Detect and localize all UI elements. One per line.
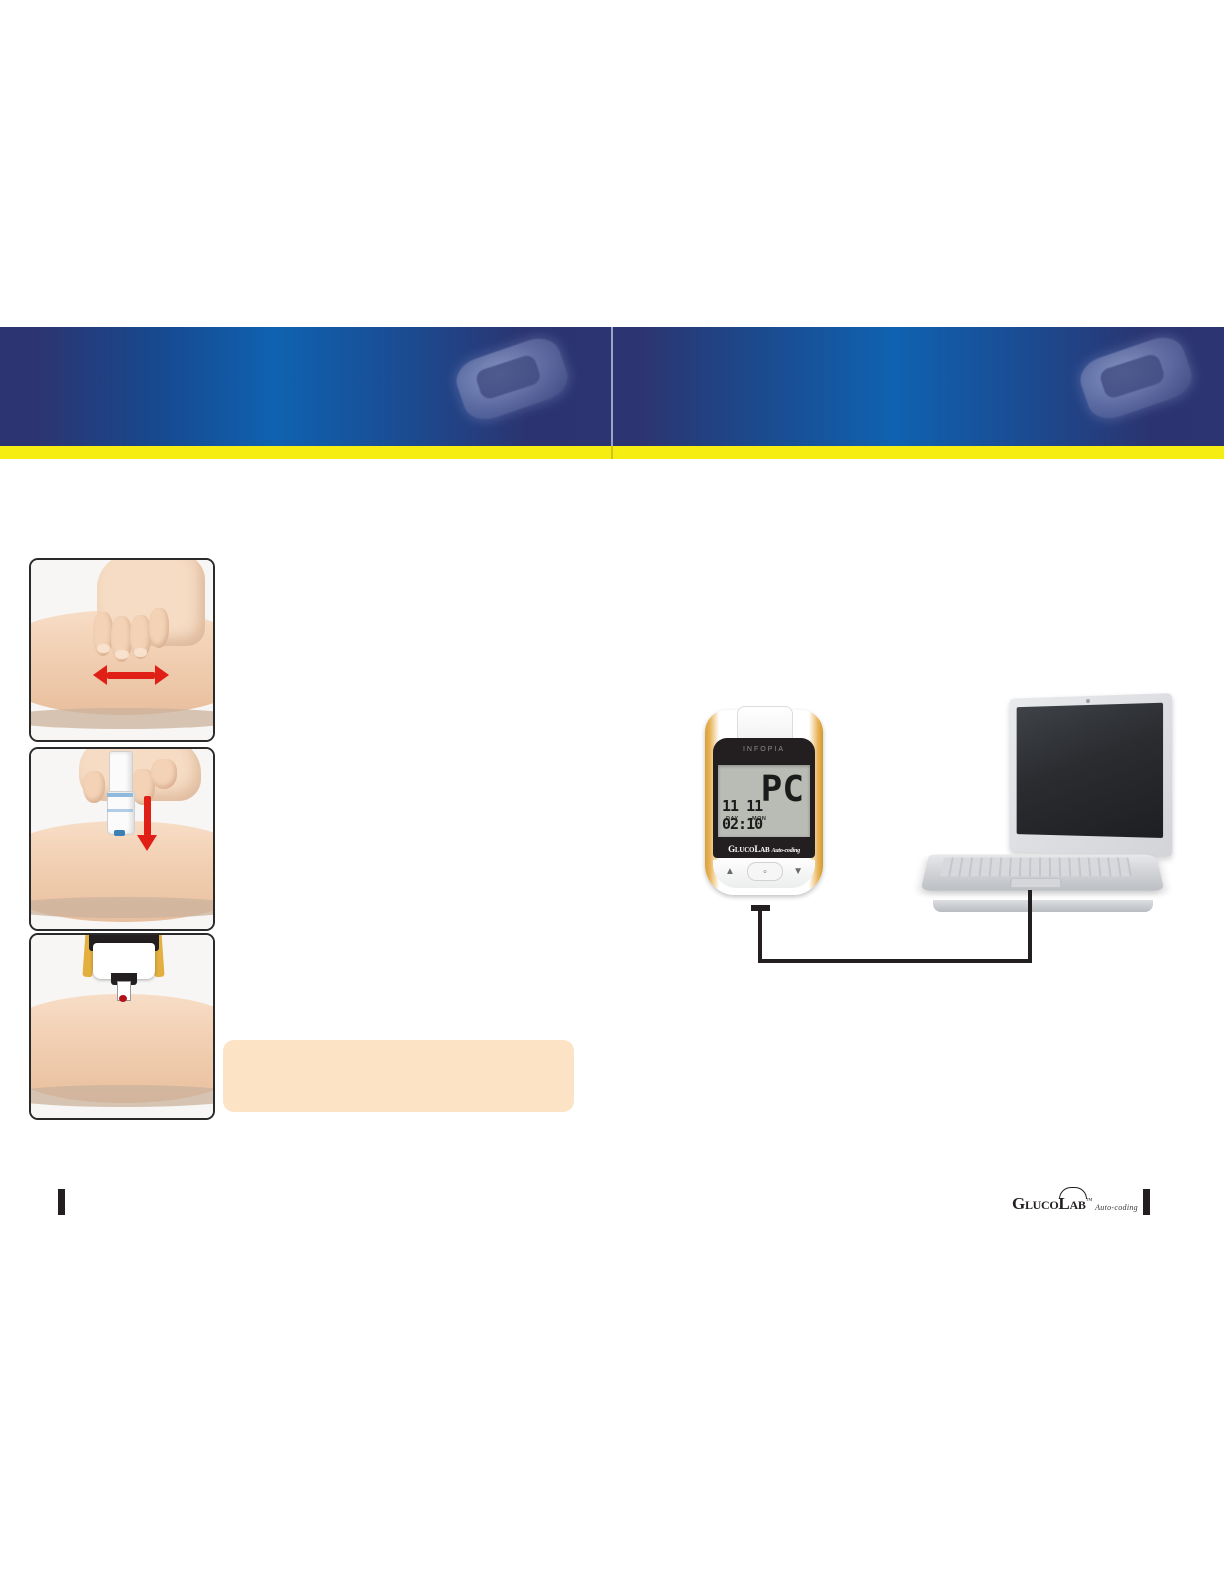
lancing-device-band [107, 793, 133, 797]
meter-to-pc-diagram: INFOPIA PC DAY MON 11 11 02:10 GLUCOLABA… [700, 680, 1180, 980]
lancing-device-body [107, 791, 135, 835]
down-arrow-icon [144, 796, 151, 836]
fingernail-shape [134, 648, 147, 657]
page-banner [0, 327, 1224, 446]
manual-page: INFOPIA PC DAY MON 11 11 02:10 GLUCOLABA… [0, 0, 1224, 1584]
page-marker-right [1143, 1189, 1150, 1215]
fingernail-shape [115, 650, 129, 659]
forearm-shadow [29, 708, 215, 730]
forearm-shadow [29, 1085, 215, 1107]
photo-lance-forearm [29, 747, 215, 931]
note-callout-box [223, 1040, 574, 1112]
page-marker-left [58, 1189, 65, 1215]
lancet-tip-icon [114, 830, 125, 836]
blood-drop [119, 995, 127, 1002]
lancing-device-band [107, 809, 133, 812]
logo-g: G [1012, 1194, 1025, 1213]
logo-arc-icon [1059, 1187, 1087, 1199]
logo-wordmark: GLUCOLAB™ [1012, 1194, 1092, 1214]
finger-shape [83, 771, 105, 803]
thumb-shape [151, 759, 177, 789]
banner-accent-divider [611, 446, 613, 459]
glucolab-footer-logo: GLUCOLAB™ Auto-coding [1012, 1190, 1138, 1214]
photo-apply-blood-to-strip [29, 933, 215, 1120]
photo-rub-forearm [29, 558, 215, 742]
double-headed-arrow-icon [107, 672, 155, 679]
finger-shape [149, 608, 169, 648]
logo-tagline: Auto-coding [1095, 1203, 1138, 1212]
logo-ab: AB [1069, 1198, 1085, 1212]
forearm-shadow [29, 897, 215, 919]
fingernail-shape [97, 644, 110, 653]
usb-data-cable [700, 680, 1180, 980]
logo-luco: LUCO [1025, 1198, 1058, 1212]
